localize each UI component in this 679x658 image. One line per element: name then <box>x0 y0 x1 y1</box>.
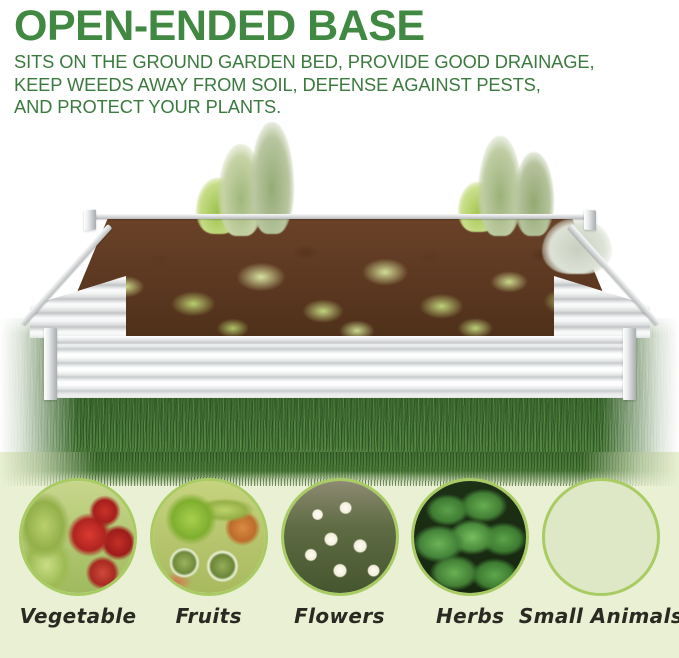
category-label-flowers: Flowers <box>294 604 385 628</box>
subtitle-line-1: SITS ON THE GROUND GARDEN BED, PROVIDE G… <box>14 51 679 74</box>
category-item-fruits: Fruits <box>147 478 271 628</box>
category-item-flowers: Flowers <box>278 478 402 628</box>
fruits-photo-icon <box>150 478 268 596</box>
flowers-photo-icon <box>281 478 399 596</box>
subtitle-line-2: KEEP WEEDS AWAY FROM SOIL, DEFENSE AGAIN… <box>14 74 679 97</box>
vegetable-photo-icon <box>19 478 137 596</box>
page-title: OPEN-ENDED BASE <box>14 4 679 48</box>
top-rail-back <box>94 214 586 219</box>
flowers-image <box>284 481 396 593</box>
category-list: Vegetable Fruits Flowers Herbs <box>0 478 679 650</box>
category-item-herbs: Herbs <box>408 478 532 628</box>
category-item-vegetable: Vegetable <box>16 478 140 628</box>
herbs-image <box>414 481 526 593</box>
corner-post-back-left <box>84 210 96 231</box>
category-label-vegetable: Vegetable <box>20 604 137 628</box>
dill-plant-right <box>514 152 554 236</box>
category-label-fruits: Fruits <box>176 604 242 628</box>
corrugated-front-panel <box>50 340 630 398</box>
category-strip: Vegetable Fruits Flowers Herbs <box>0 470 679 658</box>
small-animals-photo-icon <box>542 478 660 596</box>
top-rail-front <box>50 336 630 343</box>
herbs-photo-icon <box>411 478 529 596</box>
subtitle-line-3: AND PROTECT YOUR PLANTS. <box>14 96 679 119</box>
header-block: OPEN-ENDED BASE SITS ON THE GROUND GARDE… <box>0 0 679 119</box>
product-feature-image: OPEN-ENDED BASE SITS ON THE GROUND GARDE… <box>0 0 679 658</box>
category-label-small-animals: Small Animals <box>519 604 679 628</box>
subtitle-block: SITS ON THE GROUND GARDEN BED, PROVIDE G… <box>14 51 679 119</box>
category-item-small-animals: Small Animals <box>539 478 663 628</box>
corner-post-back-right <box>584 210 596 231</box>
hero-product-photo <box>0 118 679 470</box>
fruits-image <box>153 481 265 593</box>
small-animals-image <box>545 481 657 593</box>
corner-post-front-left <box>44 328 57 400</box>
category-label-herbs: Herbs <box>436 604 504 628</box>
raised-garden-bed <box>22 196 658 386</box>
vegetable-image <box>22 481 134 593</box>
corner-post-front-right <box>623 328 636 400</box>
